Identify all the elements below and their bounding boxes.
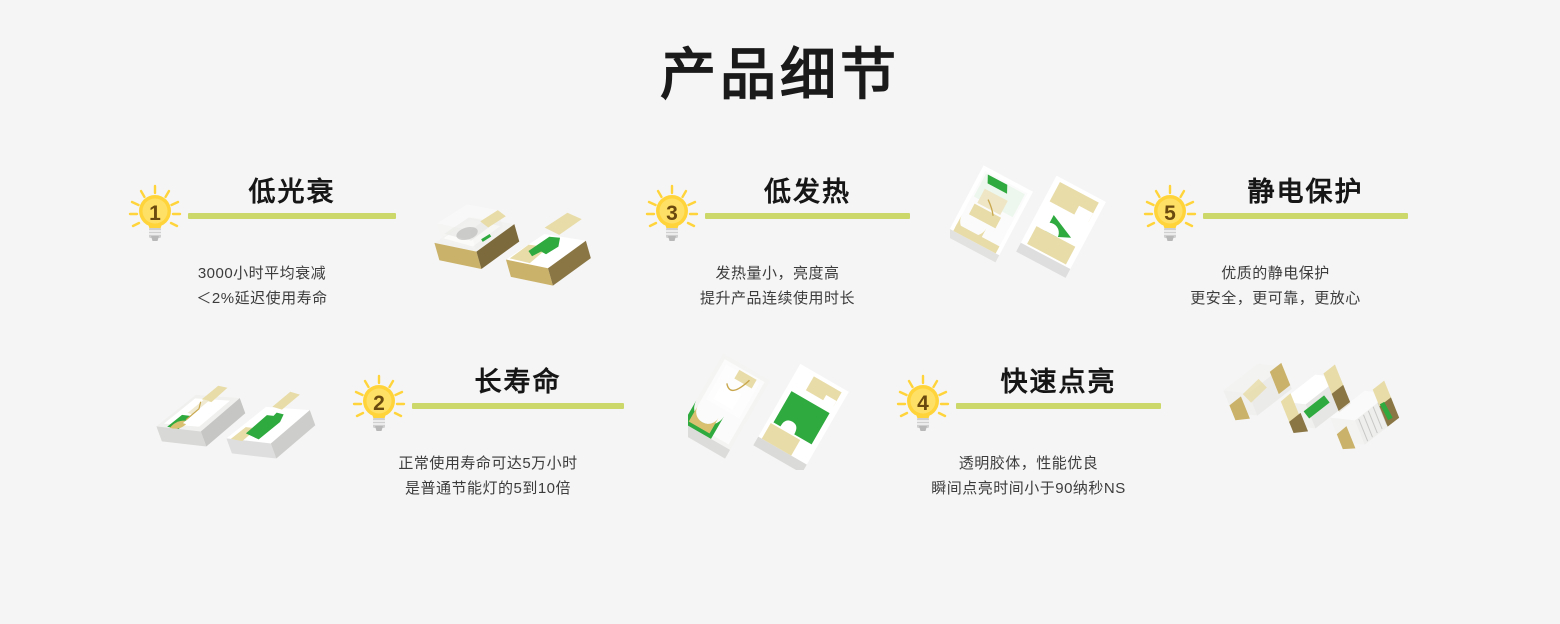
feature-1-desc-line-1: 3000小时平均衰减 [128,262,396,287]
feature-block-5: 5 静电保护 优质的静电保护 更安全，更可靠，更放心 [1143,178,1408,312]
product-details-page: 产品细节 [0,0,1560,624]
feature-2-desc-line-2: 是普通节能灯的5到10倍 [352,477,624,502]
feature-1-desc-line-2: ＜2%延迟使用寿命 [128,287,396,312]
feature-5-desc-line-1: 优质的静电保护 [1143,262,1408,287]
feature-5-header: 5 静电保护 [1143,178,1408,242]
feature-3-number: 3 [666,202,678,225]
feature-3-desc-line-1: 发热量小，亮度高 [645,262,910,287]
feature-5-number: 5 [1164,202,1176,225]
feature-5-title-wrap: 静电保护 [1203,178,1408,219]
feature-block-2: 2 长寿命 正常使用寿命可达5万小时 是普通节能灯的5到10倍 [352,368,624,502]
feature-2-title: 长寿命 [412,368,624,396]
feature-1-text: 1 低光衰 3000小时平均衰减 ＜2%延迟使用寿命 [128,178,396,312]
feature-1-number: 1 [149,202,161,225]
lightbulb-icon-4: 4 [896,374,950,432]
feature-5-title: 静电保护 [1203,178,1408,206]
lightbulb-icon-3: 3 [645,184,699,242]
feature-4-desc-line-1: 透明胶体，性能优良 [896,452,1161,477]
feature-1-underline [188,213,396,219]
product-image-smd-led-pair-clear-dome [420,186,610,298]
product-image-smd-led-pair-green-triangle [950,162,1130,282]
product-image-smd-led-pair-flat [148,368,333,480]
feature-4-title: 快速点亮 [956,368,1161,396]
feature-3-desc-line-2: 提升产品连续使用时长 [645,287,910,312]
feature-1-header: 1 低光衰 [128,178,396,242]
feature-1-description: 3000小时平均衰减 ＜2%延迟使用寿命 [128,262,396,312]
feature-5-description: 优质的静电保护 更安全，更可靠，更放心 [1143,262,1408,312]
feature-block-1: 1 低光衰 3000小时平均衰减 ＜2%延迟使用寿命 [128,178,396,312]
feature-4-desc-line-2: 瞬间点亮时间小于90纳秒NS [896,477,1161,502]
feature-block-3: 3 低发热 发热量小，亮度高 提升产品连续使用时长 [645,178,910,312]
product-image-smd-led-pair-green-die [688,348,878,470]
feature-3-description: 发热量小，亮度高 提升产品连续使用时长 [645,262,910,312]
feature-1-title: 低光衰 [188,178,396,206]
feature-2-header: 2 长寿命 [352,368,624,432]
feature-3-title-wrap: 低发热 [705,178,910,219]
page-title: 产品细节 [0,44,1560,106]
feature-2-number: 2 [373,392,385,415]
lightbulb-icon-5: 5 [1143,184,1197,242]
lightbulb-icon-1: 1 [128,184,182,242]
feature-2-text: 2 长寿命 正常使用寿命可达5万小时 是普通节能灯的5到10倍 [352,368,624,502]
feature-4-underline [956,403,1161,409]
feature-2-title-wrap: 长寿命 [412,368,624,409]
feature-3-header: 3 低发热 [645,178,910,242]
feature-5-text: 5 静电保护 优质的静电保护 更安全，更可靠，更放心 [1143,178,1408,312]
feature-2-desc-line-1: 正常使用寿命可达5万小时 [352,452,624,477]
feature-3-title: 低发热 [705,178,910,206]
feature-3-underline [705,213,910,219]
feature-2-description: 正常使用寿命可达5万小时 是普通节能灯的5到10倍 [352,452,624,502]
feature-4-text: 4 快速点亮 透明胶体，性能优良 瞬间点亮时间小于90纳秒NS [896,368,1161,502]
feature-4-title-wrap: 快速点亮 [956,368,1161,409]
feature-block-4: 4 快速点亮 透明胶体，性能优良 瞬间点亮时间小于90纳秒NS [896,368,1161,502]
feature-4-header: 4 快速点亮 [896,368,1161,432]
feature-1-title-wrap: 低光衰 [188,178,396,219]
feature-5-underline [1203,213,1408,219]
feature-4-number: 4 [917,392,929,415]
feature-2-underline [412,403,624,409]
feature-3-text: 3 低发热 发热量小，亮度高 提升产品连续使用时长 [645,178,910,312]
product-image-smd-led-trio [1218,346,1408,468]
feature-4-description: 透明胶体，性能优良 瞬间点亮时间小于90纳秒NS [896,452,1161,502]
lightbulb-icon-2: 2 [352,374,406,432]
feature-5-desc-line-2: 更安全，更可靠，更放心 [1143,287,1408,312]
